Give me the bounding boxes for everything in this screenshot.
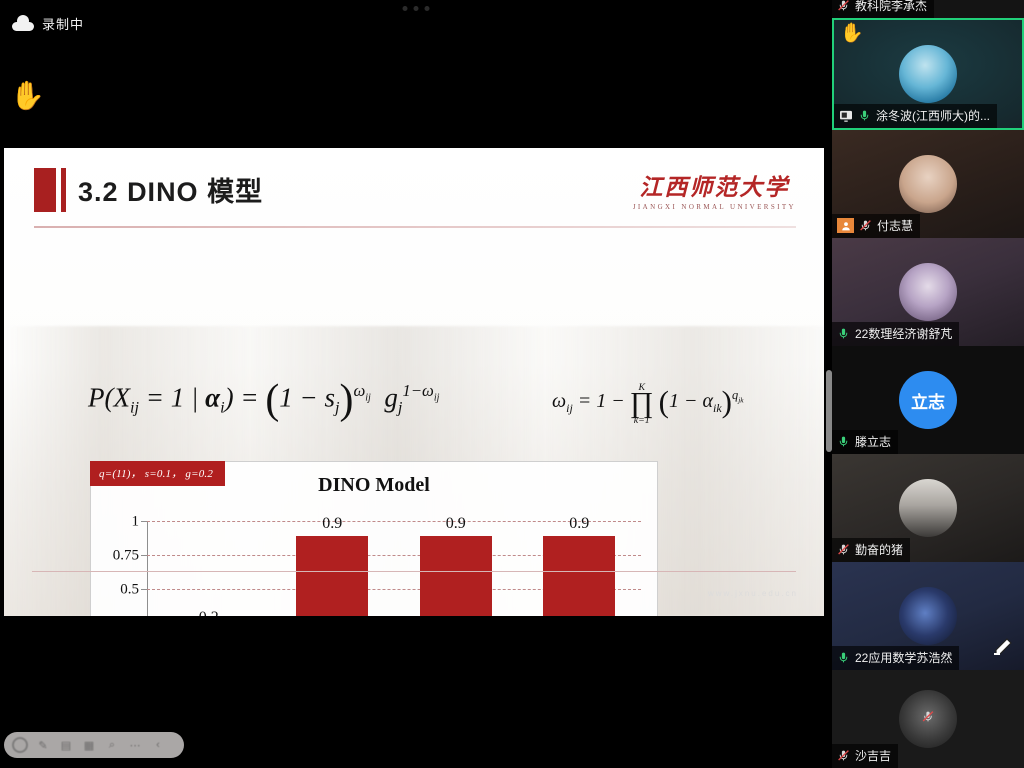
chart-bar [543,536,615,617]
participant-name: 沙吉吉 [855,747,891,764]
participant-tile[interactable]: 沙吉吉 [832,670,1024,768]
participant-name: 滕立志 [855,433,891,450]
participant-name-bar: 教科院李承杰 [832,0,934,18]
gridline [147,521,641,522]
participant-tile[interactable]: 勤奋的猪 [832,454,1024,562]
handle-dot [425,6,430,11]
avatar [899,479,957,537]
mic-muted-overlay-icon [922,710,935,728]
mic-on-icon [837,651,850,664]
avatar [899,587,957,645]
bar-value-label: 0.9 [569,515,589,533]
bar-value-label: 0.9 [322,515,342,533]
mic-muted-icon [922,710,935,723]
annotation-pen-icon[interactable] [988,635,1014,659]
y-tick-mark [141,555,147,556]
shared-screen-stage: 录制中 ✋ 3.2 DINO 模型 江西师范大学 JIANGXI NORMAL … [0,0,832,768]
chart-bar [420,536,492,617]
dino-model-chart: q=(11)， s=0.1， g=0.2 DINO Model 00.250.5… [90,461,658,616]
recording-label: 录制中 [42,14,84,33]
cloud-icon [12,17,34,31]
participant-tile[interactable]: ✋涂冬波(江西师大)的... [832,18,1024,130]
slide-menu-icon[interactable]: ▤ [58,737,74,753]
slide-title: 3.2 DINO 模型 [78,170,263,209]
ellipsis-icon[interactable]: ⋯ [127,737,143,753]
participant-name: 勤奋的猪 [855,541,903,558]
participant-name-bar: 沙吉吉 [832,744,898,768]
recording-indicator: 录制中 [12,14,84,33]
y-axis [147,522,148,616]
y-tick-label: 0.75 [113,547,139,564]
participant-name-bar: 22数理经济谢舒芃 [832,322,959,346]
y-tick-label: 0.25 [113,615,139,616]
slide-footer-divider [32,571,796,572]
formula-omega: ωij = 1 − ∏Kk=1 (1 − αik)qjk [552,384,744,420]
mic-muted-icon [837,543,850,556]
raised-hand-icon: ✋ [10,82,45,110]
title-divider [34,226,796,228]
chart-title: DINO Model [91,474,657,497]
university-logo: 江西师范大学 JIANGXI NORMAL UNIVERSITY [633,168,796,211]
raised-hand-icon: ✋ [840,24,864,43]
avatar [899,45,957,103]
mic-on-icon [837,435,850,448]
presentation-slide: 3.2 DINO 模型 江西师范大学 JIANGXI NORMAL UNIVER… [4,148,824,616]
laser-pointer-icon[interactable]: ✎ [35,737,51,753]
participant-tile[interactable]: 付志慧 [832,130,1024,238]
y-tick-label: 0.5 [120,581,139,598]
meeting-controls-handle[interactable] [403,6,430,11]
slide-title-cn: 模型 [207,177,263,207]
mic-on-icon [837,327,850,340]
avatar [899,155,957,213]
logo-chinese-text: 江西师范大学 [633,168,796,202]
bar-value-label: 0.9 [446,515,466,533]
title-accent-bar-thin [61,168,66,212]
participant-tile[interactable]: 22应用数学苏浩然 [832,562,1024,670]
annotation-indicator[interactable] [986,634,1016,660]
participant-name-bar: 付志慧 [832,214,920,238]
participant-name: 22数理经济谢舒芃 [855,325,952,342]
logo-english-text: JIANGXI NORMAL UNIVERSITY [633,203,796,211]
participants-filmstrip[interactable]: 教科院李承杰✋涂冬波(江西师大)的...付志慧22数理经济谢舒芃立志滕立志勤奋的… [832,0,1024,768]
avatar: 立志 [899,371,957,429]
handle-dot [414,6,419,11]
avatar [899,263,957,321]
chevron-left-icon[interactable]: ‹ [150,737,166,753]
participant-name: 教科院李承杰 [855,0,927,14]
slide-title-number: 3.2 [78,177,119,207]
participant-name-bar: 涂冬波(江西师大)的... [834,104,997,128]
participant-tile[interactable]: 22数理经济谢舒芃 [832,238,1024,346]
y-tick-mark [141,589,147,590]
pen-options-icon[interactable] [12,737,28,753]
screen-share-icon [839,110,853,122]
y-tick-mark [141,521,147,522]
mic-muted-icon [837,0,850,12]
slide-title-en: DINO [127,177,199,207]
participant-tile[interactable]: 立志滕立志 [832,346,1024,454]
zoom-meeting-window: 录制中 ✋ 3.2 DINO 模型 江西师范大学 JIANGXI NORMAL … [0,0,1024,768]
title-accent-bar [34,168,56,212]
participants-scrollbar[interactable] [826,370,832,452]
mic-on-icon [858,109,871,122]
mic-muted-icon [837,749,850,762]
bar-value-label: 0.2 [199,609,219,616]
magnifier-icon[interactable]: ⌕ [104,737,120,753]
chart-bar [296,536,368,617]
y-tick-label: 1 [132,514,140,531]
participant-name: 付志慧 [877,217,913,234]
participant-name-bar: 勤奋的猪 [832,538,910,562]
participant-name-bar: 滕立志 [832,430,898,454]
mic-muted-icon [859,219,872,232]
participant-name-bar: 22应用数学苏浩然 [832,646,959,670]
participant-name: 22应用数学苏浩然 [855,649,952,666]
formula-dino-probability: P(Xij = 1 | αi) = (1 − sj)ωij gj1−ωij [88,376,439,424]
chart-plot-area: 00.250.50.7510.2000.9100.9010.911 [147,522,641,616]
presentation-toolbar[interactable]: ✎ ▤ ▦ ⌕ ⋯ ‹ [4,732,184,758]
slide-footer-url: www.jxnu.edu.cn [708,589,798,598]
participant-name: 涂冬波(江西师大)的... [876,107,990,124]
participant-tile[interactable]: 教科院李承杰 [832,0,1024,18]
handle-dot [403,6,408,11]
slide-header: 3.2 DINO 模型 江西师范大学 JIANGXI NORMAL UNIVER… [34,164,796,228]
person-icon [837,218,854,233]
grid-icon[interactable]: ▦ [81,737,97,753]
